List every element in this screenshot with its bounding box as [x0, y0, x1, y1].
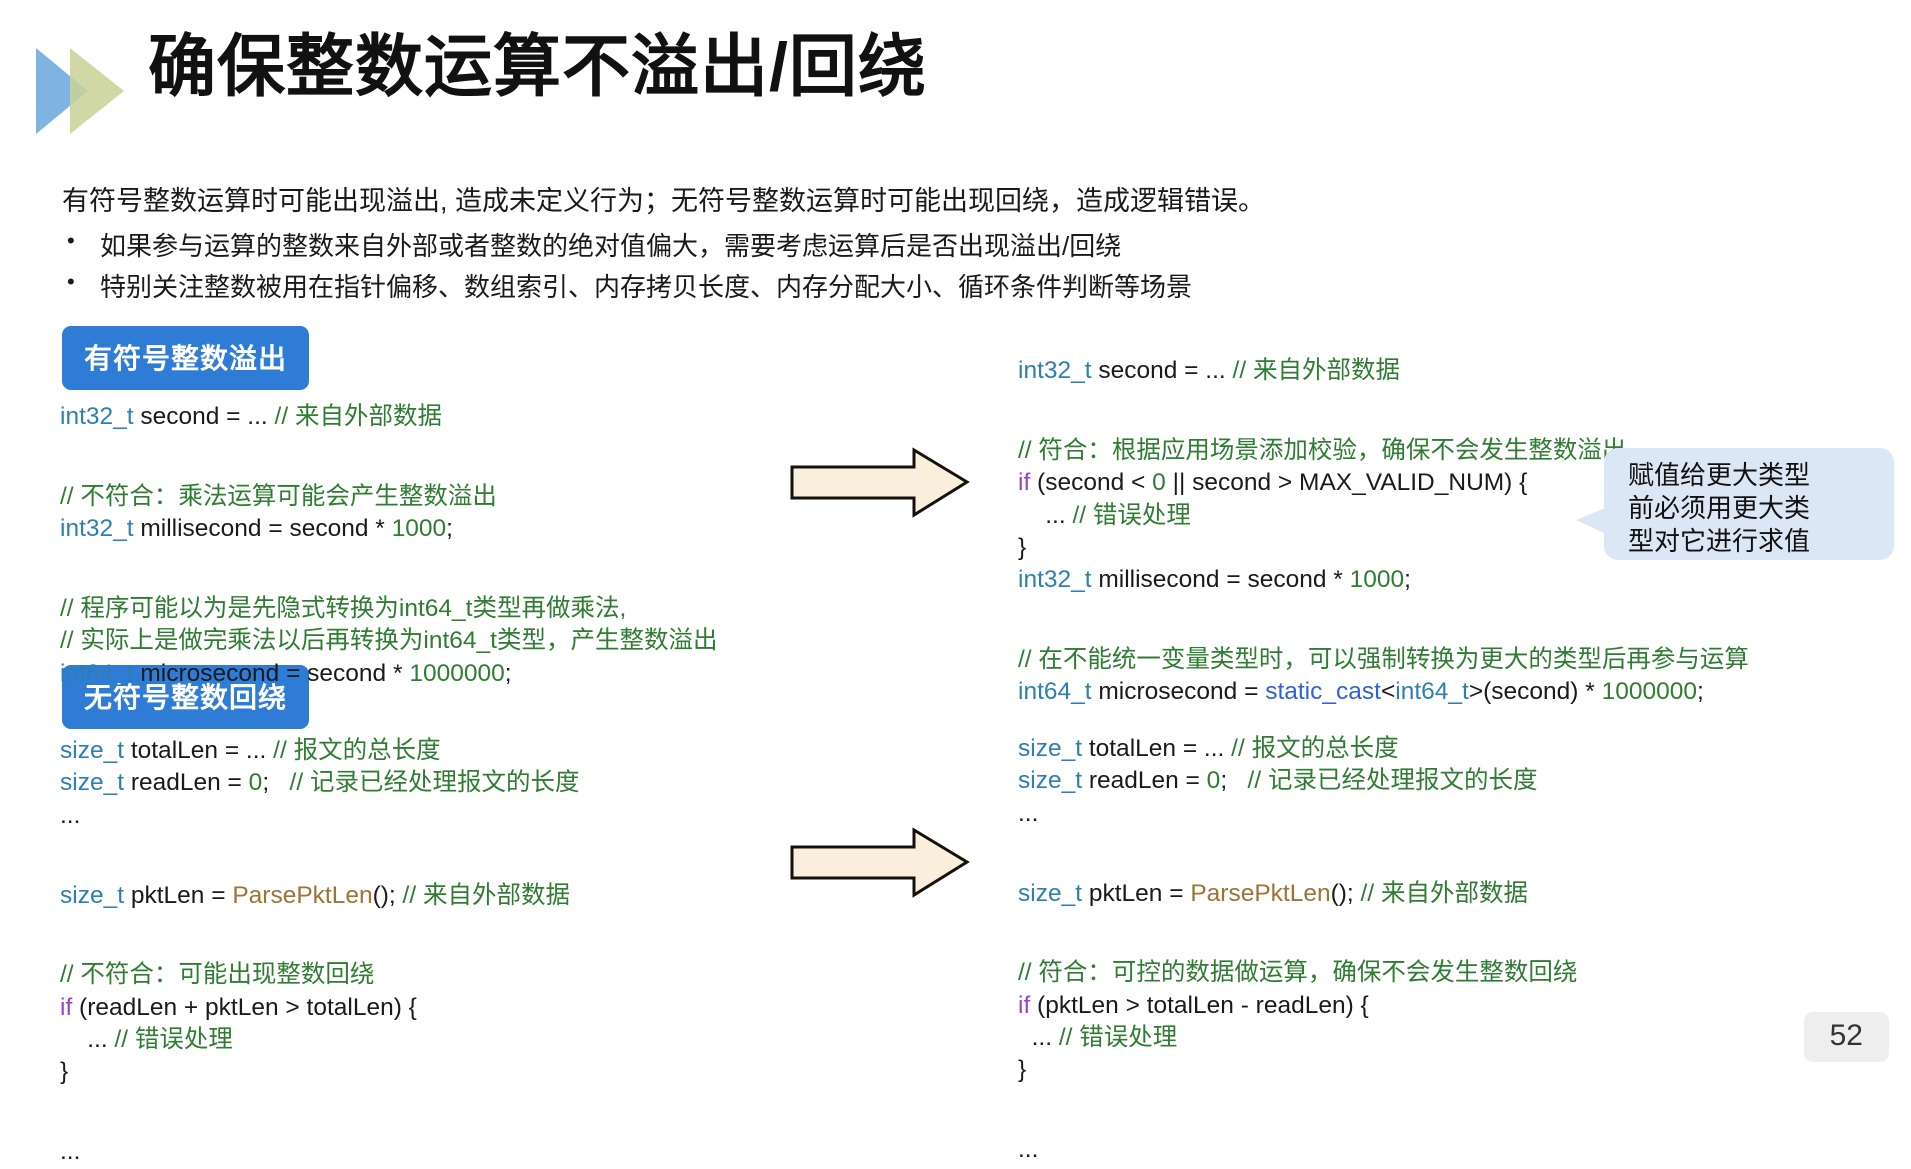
code-token-comment: // 错误处理	[114, 1026, 232, 1053]
code-token-text: second = ...	[1092, 357, 1233, 384]
code-token-text: ...	[60, 1138, 80, 1165]
code-token-number: 1000000	[1602, 678, 1697, 705]
code-token-comment: // 错误处理	[1059, 1024, 1177, 1051]
intro-block: 有符号整数运算时可能出现溢出, 造成未定义行为；无符号整数运算时可能出现回绕，造…	[62, 183, 1562, 307]
code-token-text: ...	[1018, 800, 1038, 827]
code-token-type: size_t	[60, 882, 124, 909]
code-token-text: ();	[1331, 880, 1361, 907]
code-token-text: ...	[60, 1026, 114, 1053]
code-token-comment: // 不符合：乘法运算可能会产生整数溢出	[60, 483, 497, 510]
section-badge-signed-overflow: 有符号整数溢出	[62, 326, 309, 390]
code-token-text: ();	[373, 882, 403, 909]
code-token-text: second = ...	[134, 403, 275, 430]
code-token-comment: // 记录已经处理报文的长度	[290, 769, 580, 796]
code-token-text: (readLen + pktLen > totalLen) {	[72, 994, 417, 1021]
page-number-badge: 52	[1804, 1012, 1889, 1062]
code-token-text: totalLen = ...	[124, 737, 273, 764]
double-triangle-play-logo	[26, 30, 136, 140]
code-token-type: int32_t	[60, 403, 134, 430]
code-token-comment: // 实际上是做完乘法以后再转换为int64_t类型，产生整数溢出	[60, 627, 717, 654]
code-token-comment: // 符合：根据应用场景添加校验，确保不会发生整数溢出	[1018, 437, 1626, 464]
intro-bullet-1: 如果参与运算的整数来自外部或者整数的绝对值偏大，需要考虑运算后是否出现溢出/回绕	[62, 226, 1562, 266]
code-token-text: ;	[1697, 678, 1704, 705]
intro-bullet-list: 如果参与运算的整数来自外部或者整数的绝对值偏大，需要考虑运算后是否出现溢出/回绕…	[62, 226, 1562, 307]
code-token-text: ...	[1018, 1024, 1059, 1051]
code-token-text: ;	[1220, 767, 1247, 794]
code-token-text: ...	[60, 802, 80, 829]
code-token-cast: static_cast	[1265, 678, 1381, 705]
code-token-text: pktLen =	[1082, 880, 1190, 907]
code-token-comment: // 来自外部数据	[275, 403, 442, 430]
code-token-text: millisecond = second *	[1092, 566, 1350, 593]
code-block-unsigned-noncompliant: size_t totalLen = ... // 报文的总长度 size_t r…	[60, 735, 579, 1169]
code-token-text: ...	[1018, 1136, 1038, 1163]
code-token-type: size_t	[1018, 880, 1082, 907]
code-token-keyword: if	[1018, 469, 1030, 496]
intro-lead: 有符号整数运算时可能出现溢出, 造成未定义行为；无符号整数运算时可能出现回绕，造…	[62, 183, 1562, 220]
code-token-text: (pktLen > totalLen - readLen) {	[1030, 992, 1368, 1019]
code-token-number: 0	[1207, 767, 1221, 794]
code-token-comment: // 来自外部数据	[1233, 357, 1400, 384]
code-token-type: int32_t	[60, 515, 134, 542]
code-token-comment: // 来自外部数据	[1361, 880, 1528, 907]
code-token-text: readLen =	[1082, 767, 1207, 794]
code-token-text: ;	[505, 660, 512, 687]
code-token-comment: // 不符合：可能出现整数回绕	[60, 961, 374, 988]
code-token-type: int32_t	[1018, 357, 1092, 384]
code-token-comment: // 在不能统一变量类型时，可以强制转换为更大的类型后再参与运算	[1018, 646, 1749, 673]
code-token-type: int64_t	[1018, 678, 1092, 705]
code-token-text: pktLen =	[124, 882, 232, 909]
code-token-type: size_t	[1018, 735, 1082, 762]
code-token-text: totalLen = ...	[1082, 735, 1231, 762]
code-token-number: 1000	[1350, 566, 1405, 593]
code-token-type: int64_t	[60, 660, 134, 687]
code-token-text: (second <	[1030, 469, 1152, 496]
code-token-comment: // 报文的总长度	[1231, 735, 1398, 762]
callout-bubble: 赋值给更大类型 前必须用更大类 型对它进行求值	[1604, 448, 1894, 560]
callout-body: 赋值给更大类型 前必须用更大类 型对它进行求值	[1604, 448, 1894, 560]
code-token-text: || second > MAX_VALID_NUM) {	[1166, 469, 1528, 496]
code-token-text: (second) *	[1483, 678, 1601, 705]
code-token-type: int32_t	[1018, 566, 1092, 593]
page-title: 确保整数运算不溢出/回绕	[148, 28, 927, 106]
code-token-text: microsecond =	[1092, 678, 1266, 705]
code-token-function: ParsePktLen	[232, 882, 372, 909]
code-token-function: ParsePktLen	[1190, 880, 1330, 907]
code-token-text: }	[1018, 534, 1026, 561]
code-block-signed-noncompliant: int32_t second = ... // 来自外部数据 // 不符合：乘法…	[60, 401, 717, 690]
code-token-type: size_t	[1018, 767, 1082, 794]
code-token-text: ...	[1018, 502, 1072, 529]
transform-arrow-signed-icon	[790, 447, 970, 519]
code-token-keyword: if	[60, 994, 72, 1021]
code-token-text: ;	[446, 515, 453, 542]
code-token-comment: // 程序可能以为是先隐式转换为int64_t类型再做乘法,	[60, 595, 626, 622]
code-token-comment: // 符合：可控的数据做运算，确保不会发生整数回绕	[1018, 959, 1577, 986]
code-token-type: size_t	[60, 769, 124, 796]
code-token-text: }	[1018, 1056, 1026, 1083]
code-token-text: }	[60, 1058, 68, 1085]
code-token-comment: // 报文的总长度	[273, 737, 440, 764]
code-token-text: >	[1469, 678, 1483, 705]
code-token-comment: // 错误处理	[1072, 502, 1190, 529]
code-token-comment: // 记录已经处理报文的长度	[1248, 767, 1538, 794]
code-token-keyword: if	[1018, 992, 1030, 1019]
code-token-type: size_t	[60, 737, 124, 764]
code-token-text: <	[1381, 678, 1395, 705]
code-token-type: int64_t	[1395, 678, 1469, 705]
intro-bullet-2: 特别关注整数被用在指针偏移、数组索引、内存拷贝长度、内存分配大小、循环条件判断等…	[62, 267, 1562, 307]
transform-arrow-unsigned-icon	[790, 827, 970, 899]
code-token-text: microsecond = second *	[134, 660, 410, 687]
code-token-text: readLen =	[124, 769, 249, 796]
callout-text: 赋值给更大类型 前必须用更大类 型对它进行求值	[1628, 459, 1886, 558]
code-token-text: ;	[1404, 566, 1411, 593]
code-token-text: millisecond = second *	[134, 515, 392, 542]
code-token-text: ;	[262, 769, 289, 796]
code-token-number: 1000000	[409, 660, 504, 687]
code-token-number: 0	[1152, 469, 1166, 496]
code-token-number: 1000	[392, 515, 447, 542]
code-token-comment: // 来自外部数据	[403, 882, 570, 909]
code-token-number: 0	[249, 769, 263, 796]
code-block-unsigned-compliant: size_t totalLen = ... // 报文的总长度 size_t r…	[1018, 733, 1577, 1167]
